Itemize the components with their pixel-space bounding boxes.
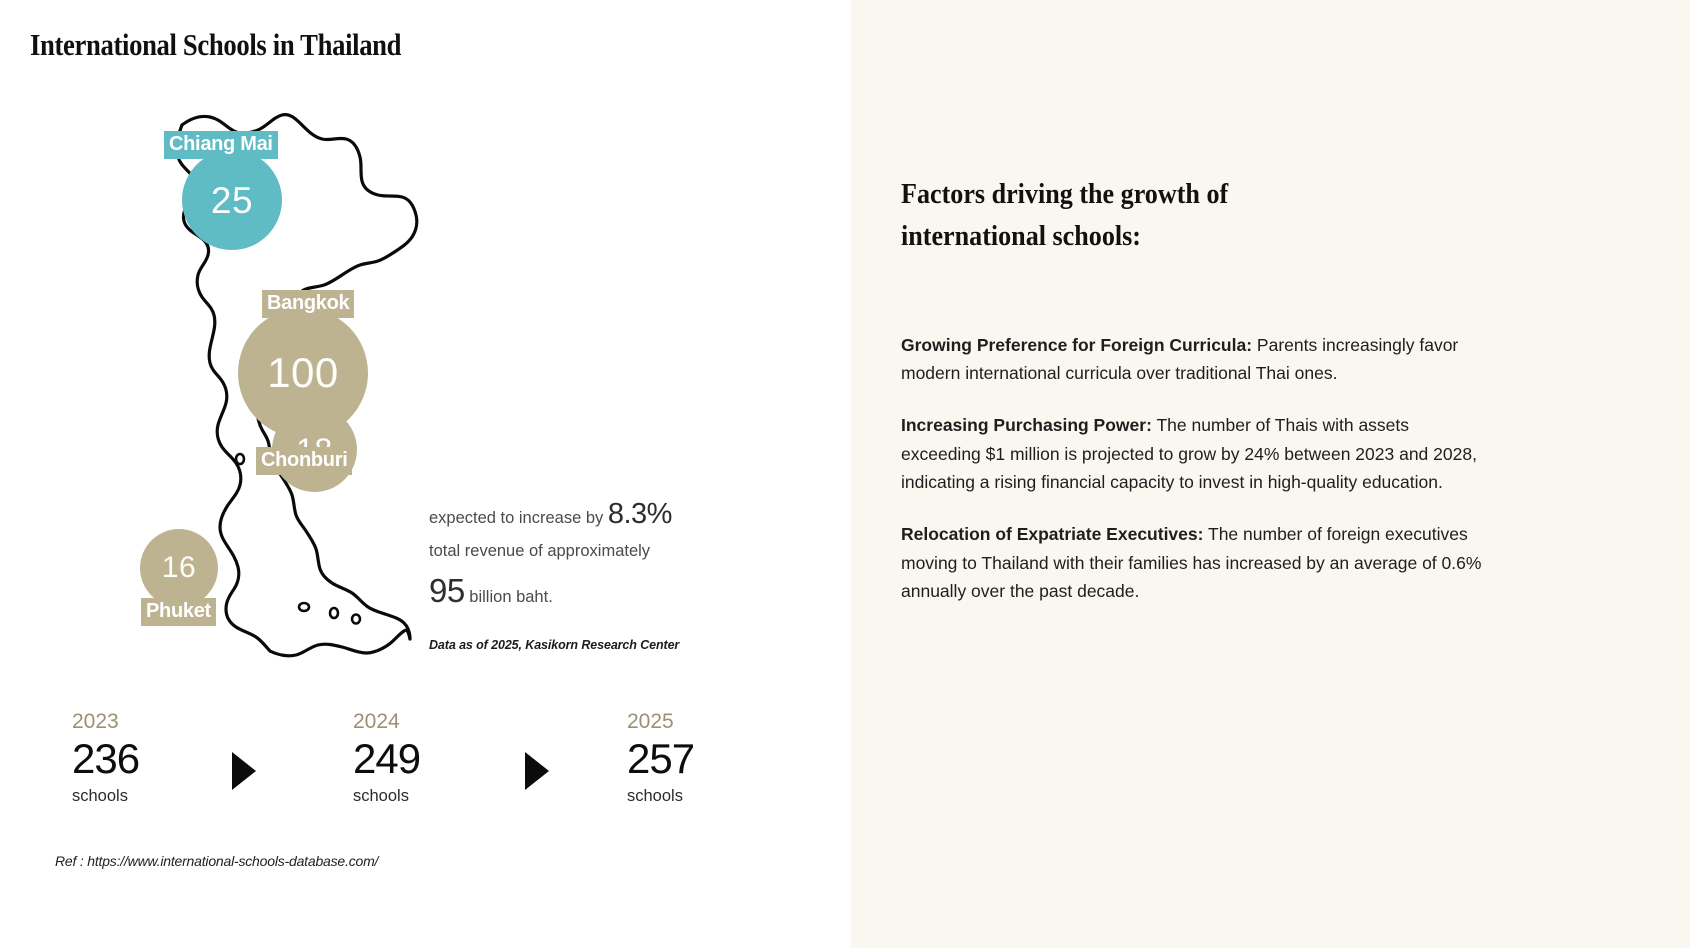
bubble-chiang-mai[interactable]: 25 bbox=[182, 150, 282, 250]
factor-lead: Relocation of Expatriate Executives: bbox=[901, 524, 1203, 544]
bubble-chiang-mai-value: 25 bbox=[211, 182, 253, 219]
arrow-right-icon bbox=[232, 752, 256, 790]
timeline-unit: schools bbox=[627, 787, 694, 806]
timeline-count: 249 bbox=[353, 737, 420, 781]
factor-lead: Increasing Purchasing Power: bbox=[901, 415, 1152, 435]
factor-item: Increasing Purchasing Power: The number … bbox=[901, 411, 1491, 496]
city-label-chonburi: Chonburi bbox=[256, 447, 352, 475]
schools-timeline: 2023 236 schools 2024 249 schools 2025 2… bbox=[60, 710, 760, 835]
factor-item: Relocation of Expatriate Executives: The… bbox=[901, 520, 1491, 605]
timeline-item-2024: 2024 249 schools bbox=[353, 710, 420, 806]
stat-revenue-unit: billion baht. bbox=[465, 588, 553, 606]
timeline-year: 2024 bbox=[353, 710, 420, 733]
bubble-phuket[interactable]: 16 bbox=[140, 529, 218, 607]
timeline-unit: schools bbox=[353, 787, 420, 806]
page-title: International Schools in Thailand bbox=[30, 27, 401, 63]
timeline-count: 257 bbox=[627, 737, 694, 781]
timeline-item-2025: 2025 257 schools bbox=[627, 710, 694, 806]
city-label-chiang-mai: Chiang Mai bbox=[164, 131, 278, 159]
right-panel: Factors driving the growth of internatio… bbox=[851, 0, 1690, 948]
timeline-year: 2023 bbox=[72, 710, 139, 733]
timeline-count: 236 bbox=[72, 737, 139, 781]
bubble-phuket-value: 16 bbox=[162, 553, 196, 583]
stat-increase-value: 8.3% bbox=[608, 498, 672, 530]
stat-revenue-label: total revenue of approximately bbox=[429, 543, 759, 560]
reference-link[interactable]: Ref : https://www.international-schools-… bbox=[55, 853, 378, 869]
stat-revenue-value: 95 bbox=[429, 572, 465, 609]
city-label-phuket: Phuket bbox=[141, 598, 216, 626]
factor-lead: Growing Preference for Foreign Curricula… bbox=[901, 335, 1252, 355]
factors-list: Growing Preference for Foreign Curricula… bbox=[901, 313, 1491, 629]
infographic-page: International Schools in Thailand 100 Ba… bbox=[0, 0, 1690, 948]
timeline-unit: schools bbox=[72, 787, 139, 806]
city-label-bangkok: Bangkok bbox=[262, 290, 354, 318]
arrow-right-icon bbox=[525, 752, 549, 790]
stat-increase-prefix: expected to increase by bbox=[429, 509, 608, 527]
stat-increase-line: expected to increase by 8.3% bbox=[429, 500, 759, 529]
data-source-note: Data as of 2025, Kasikorn Research Cente… bbox=[429, 638, 679, 652]
timeline-year: 2025 bbox=[627, 710, 694, 733]
bubble-bangkok-value: 100 bbox=[267, 352, 339, 394]
timeline-item-2023: 2023 236 schools bbox=[72, 710, 139, 806]
left-panel: International Schools in Thailand 100 Ba… bbox=[0, 0, 851, 948]
stat-revenue-line: 95 billion baht. bbox=[429, 574, 759, 607]
factor-item: Growing Preference for Foreign Curricula… bbox=[901, 331, 1491, 388]
revenue-stats-block: expected to increase by 8.3% total reven… bbox=[429, 500, 759, 621]
factors-heading: Factors driving the growth of internatio… bbox=[901, 173, 1369, 257]
